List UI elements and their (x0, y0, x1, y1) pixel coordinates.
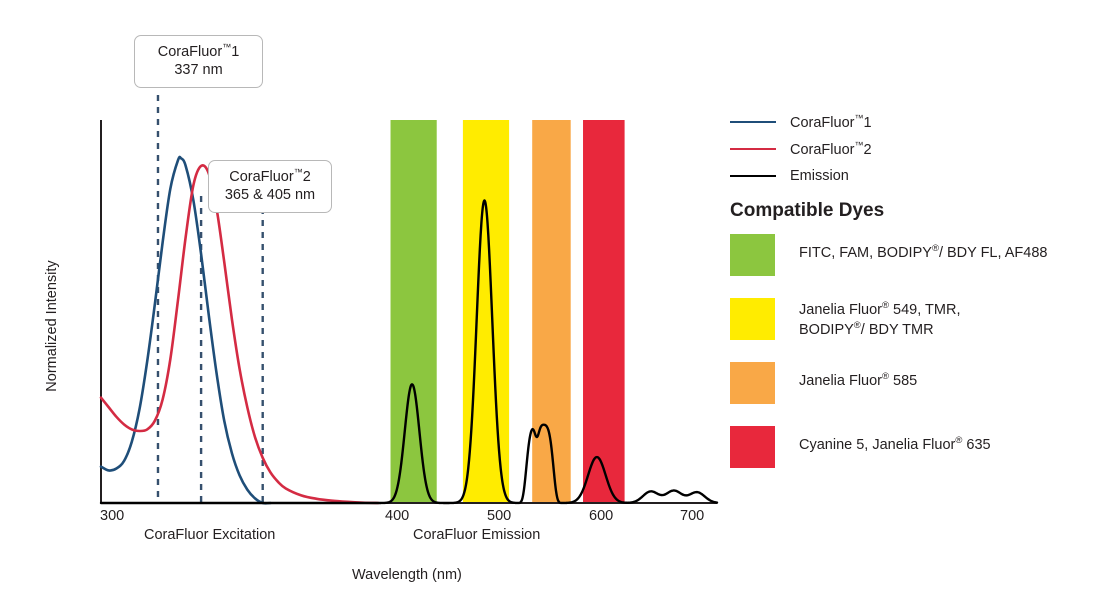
legend-item-emission: Emission (730, 162, 1090, 189)
curve-corafluor2 (101, 165, 378, 503)
dye-label: FITC, FAM, BODIPY®/ BDY FL, AF488 (799, 234, 1047, 263)
callout1-line1: CoraFluor™1 (158, 44, 240, 60)
dye-band-0 (391, 120, 437, 503)
dye-color-swatch (730, 298, 775, 340)
figure-canvas: CoraFluor™1 337 nm CoraFluor™2 365 & 405… (0, 0, 1110, 612)
registered-symbol: ® (932, 243, 939, 254)
dye-color-swatch (730, 426, 775, 468)
callout-corafluor2: CoraFluor™2 365 & 405 nm (208, 160, 332, 213)
dye-label: Janelia Fluor® 585 (799, 362, 917, 391)
excitation-region-label: CoraFluor Excitation (144, 527, 275, 543)
callout1-line2: 337 nm (145, 61, 252, 80)
registered-symbol: ® (854, 320, 861, 331)
dye-color-swatch (730, 234, 775, 276)
emission-region-label: CoraFluor Emission (413, 527, 540, 543)
series-legend: CoraFluor™1 CoraFluor™2 Emission (730, 108, 1090, 189)
legend-line-swatch (730, 175, 776, 177)
callout2-line1: CoraFluor™2 (229, 169, 311, 185)
callout-corafluor1: CoraFluor™1 337 nm (134, 35, 263, 88)
legend-line-swatch (730, 121, 776, 123)
trademark-symbol: ™ (222, 42, 231, 52)
x-tick-label-700: 700 (680, 508, 704, 524)
dye-band-layer (391, 120, 625, 503)
callout2-line2: 365 & 405 nm (219, 186, 321, 205)
dye-row-1: Janelia Fluor® 549, TMR,BODIPY®/ BDY TMR (730, 298, 1100, 340)
dye-color-swatch (730, 362, 775, 404)
x-tick-label-300: 300 (100, 508, 124, 524)
registered-symbol: ® (882, 371, 889, 382)
y-axis-title: Normalized Intensity (44, 241, 60, 411)
legend-item-corafluor1: CoraFluor™1 (730, 108, 1090, 135)
dye-row-0: FITC, FAM, BODIPY®/ BDY FL, AF488 (730, 234, 1100, 276)
excitation-vline-layer (158, 95, 263, 503)
dye-label: Janelia Fluor® 549, TMR,BODIPY®/ BDY TMR (799, 298, 960, 340)
dye-row-2: Janelia Fluor® 585 (730, 362, 1100, 404)
registered-symbol: ® (882, 300, 889, 311)
legend-item-corafluor2: CoraFluor™2 (730, 135, 1090, 162)
x-tick-label-500: 500 (487, 508, 511, 524)
compatible-dyes-title: Compatible Dyes (730, 200, 884, 222)
trademark-symbol: ™ (294, 167, 303, 177)
x-axis-title: Wavelength (nm) (352, 567, 462, 583)
x-tick-label-400: 400 (385, 508, 409, 524)
legend-label: CoraFluor™2 (790, 140, 872, 158)
x-tick-label-600: 600 (589, 508, 613, 524)
compatible-dyes-list: FITC, FAM, BODIPY®/ BDY FL, AF488Janelia… (730, 234, 1100, 490)
dye-band-3 (583, 120, 625, 503)
dye-label: Cyanine 5, Janelia Fluor® 635 (799, 426, 991, 455)
legend-line-swatch (730, 148, 776, 150)
dye-row-3: Cyanine 5, Janelia Fluor® 635 (730, 426, 1100, 468)
registered-symbol: ® (955, 435, 962, 446)
legend-label: CoraFluor™1 (790, 113, 872, 131)
legend-label: Emission (790, 168, 849, 184)
